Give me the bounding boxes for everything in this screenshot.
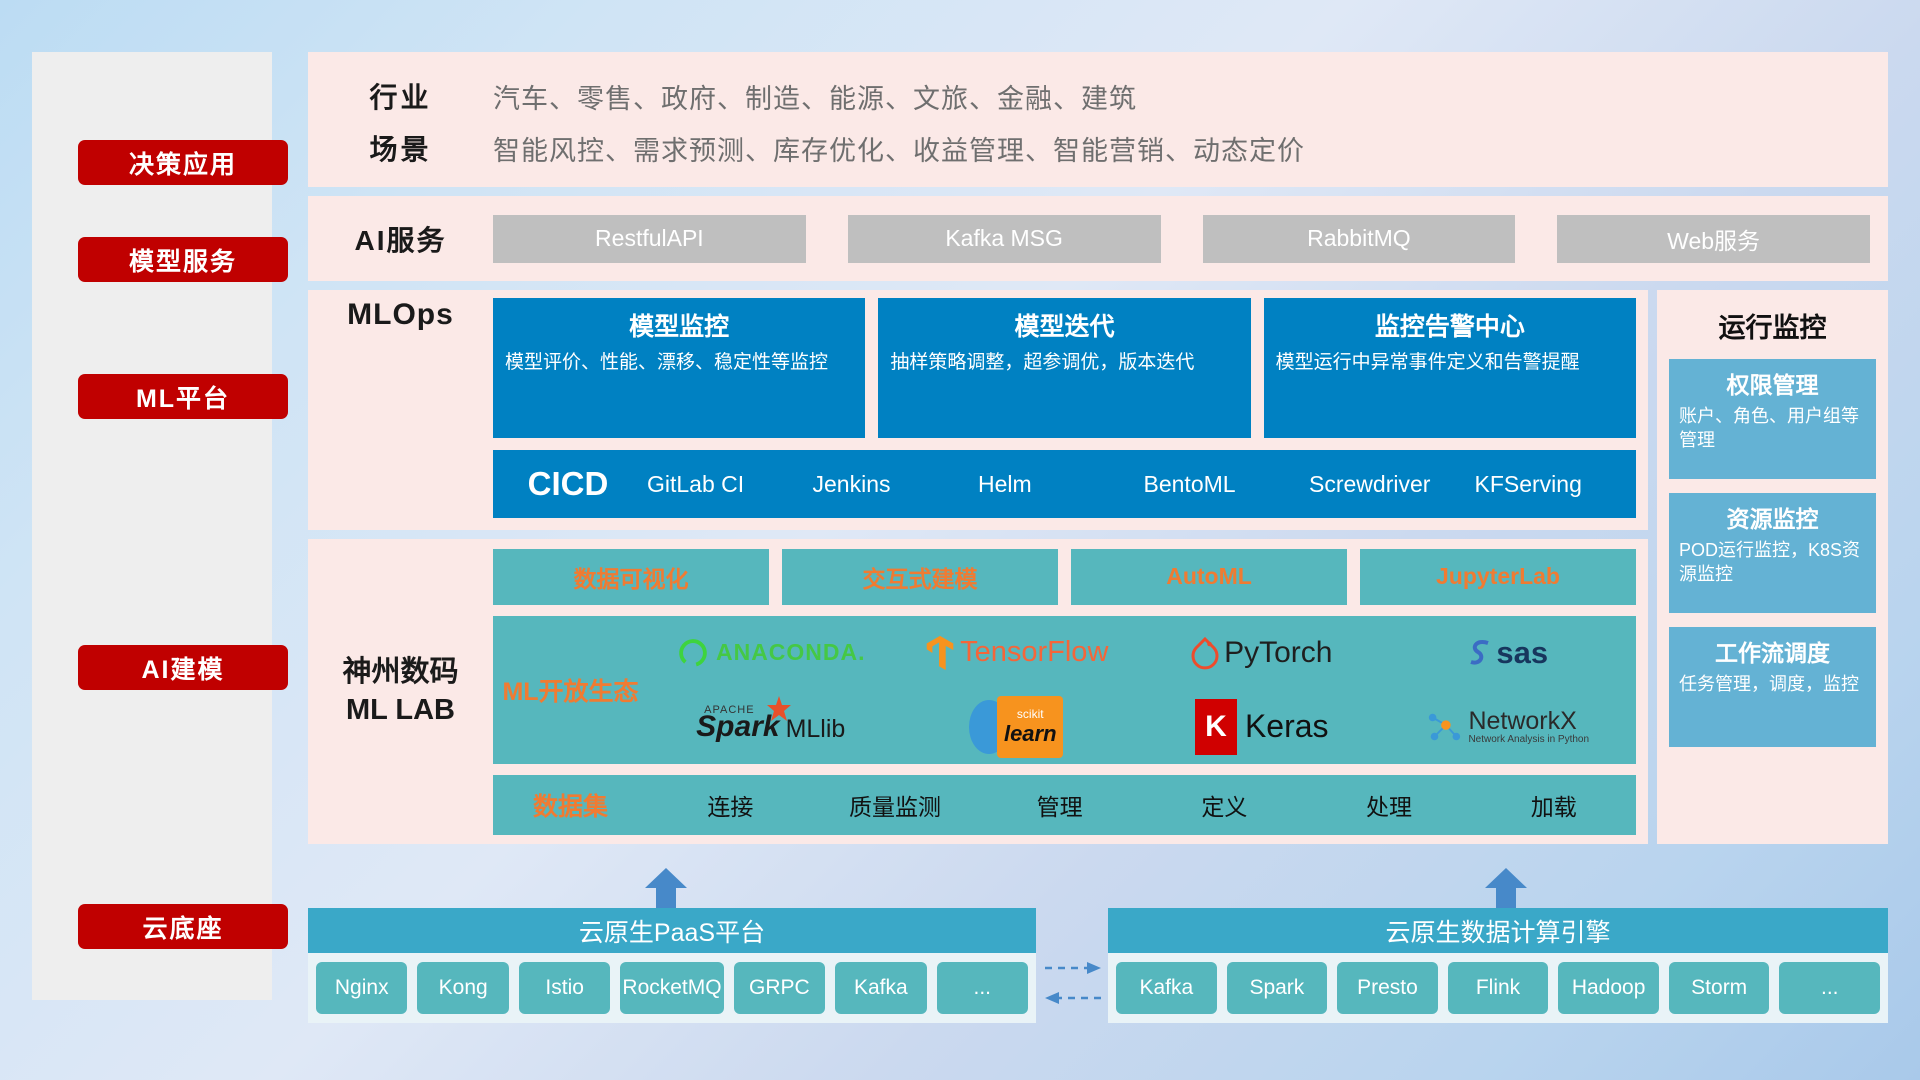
cicd-item-bentoml[interactable]: BentoML [1140,473,1306,496]
ai-service-label: AI服务 [308,219,493,259]
mlops-card-alert-center[interactable]: 监控告警中心 模型运行中异常事件定义和告警提醒 [1264,298,1636,438]
data-chip-hadoop[interactable]: Hadoop [1558,962,1659,1014]
architecture-main: 行业 汽车、零售、政府、制造、能源、文旅、金融、建筑 场景 智能风控、需求预测、… [308,52,1888,844]
scenario-value: 智能风控、需求预测、库存优化、收益管理、智能营销、动态定价 [493,129,1305,168]
mid-left-column: MLOps 模型监控 模型评价、性能、漂移、稳定性等监控 模型迭代 抽样策略调整… [308,290,1648,844]
mid-section: MLOps 模型监控 模型评价、性能、漂移、稳定性等监控 模型迭代 抽样策略调整… [308,290,1888,844]
rail-chip-ai-modeling[interactable]: AI建模 [78,645,288,690]
ml-open-ecosystem-row: ML开放生态 ANACONDA. [493,616,1636,764]
monitor-card-permission[interactable]: 权限管理 账户、角色、用户组等管理 [1669,359,1876,479]
tool-chip-interactive-modeling[interactable]: 交互式建模 [782,549,1058,605]
anaconda-logo: ANACONDA. [676,636,866,670]
cicd-item-screwdriver[interactable]: Screwdriver [1305,473,1471,496]
dataset-row: 数据集 连接 质量监测 管理 定义 处理 加载 [493,775,1636,835]
rail-chip-model-service[interactable]: 模型服务 [78,237,288,282]
dataset-item-connect[interactable]: 连接 [648,788,813,822]
service-chip-web-service[interactable]: Web服务 [1557,215,1870,263]
mlops-card-model-iteration[interactable]: 模型迭代 抽样策略调整，超参调优，版本迭代 [878,298,1250,438]
data-chip-flink[interactable]: Flink [1448,962,1549,1014]
tool-chip-automl[interactable]: AutoML [1071,549,1347,605]
monitor-card-workflow[interactable]: 工作流调度 任务管理，调度，监控 [1669,627,1876,747]
mlops-body: 模型监控 模型评价、性能、漂移、稳定性等监控 模型迭代 抽样策略调整，超参调优，… [493,298,1648,518]
cicd-title: CICD [493,465,643,503]
cloud-foundation-section: 云原生PaaS平台 Nginx Kong Istio RocketMQ GRPC… [308,890,1888,1050]
cicd-item-jenkins[interactable]: Jenkins [809,473,975,496]
up-arrow-paas-icon [643,868,689,908]
ml-lab-label: 神州数码 ML LAB [308,654,493,728]
mlops-label: MLOps [308,298,493,332]
ml-lab-body: 数据可视化 交互式建模 AutoML JupyterLab ML开放生态 ANA… [493,549,1648,835]
tool-chip-jupyterlab[interactable]: JupyterLab [1360,549,1636,605]
paas-chip-istio[interactable]: Istio [519,962,610,1014]
mlops-card-model-monitoring[interactable]: 模型监控 模型评价、性能、漂移、稳定性等监控 [493,298,865,438]
cicd-row: CICD GitLab CI Jenkins Helm BentoML Scre… [493,450,1636,518]
data-compute-engine-group: 云原生数据计算引擎 Kafka Spark Presto Flink Hadoo… [1108,908,1888,1023]
data-compute-engine-title: 云原生数据计算引擎 [1108,908,1888,953]
dataset-item-load[interactable]: 加载 [1471,788,1636,822]
runtime-monitoring-title: 运行监控 [1669,306,1876,345]
industry-label: 行业 [308,76,493,116]
paas-chip-grpc[interactable]: GRPC [734,962,825,1014]
industry-row: 行业 汽车、零售、政府、制造、能源、文旅、金融、建筑 [308,70,1888,122]
paas-chip-nginx[interactable]: Nginx [316,962,407,1014]
paas-platform-group: 云原生PaaS平台 Nginx Kong Istio RocketMQ GRPC… [308,908,1036,1023]
dataset-item-define[interactable]: 定义 [1142,788,1307,822]
ai-service-chip-list: RestfulAPI Kafka MSG RabbitMQ Web服务 [493,215,1888,263]
dataset-item-manage[interactable]: 管理 [977,788,1142,822]
tool-chip-data-visualization[interactable]: 数据可视化 [493,549,769,605]
paas-chip-list: Nginx Kong Istio RocketMQ GRPC Kafka ... [308,953,1036,1023]
mlops-card-title: 模型迭代 [890,307,1238,343]
rail-chip-cloud-base[interactable]: 云底座 [78,904,288,949]
mlops-card-desc: 模型评价、性能、漂移、稳定性等监控 [505,350,853,376]
mlops-card-desc: 抽样策略调整，超参调优，版本迭代 [890,350,1238,376]
dataset-item-list: 连接 质量监测 管理 定义 处理 加载 [648,788,1636,822]
tensorflow-logo: TensorFlow [924,634,1108,672]
ml-lab-band: 神州数码 ML LAB 数据可视化 交互式建模 AutoML JupyterLa… [308,539,1648,844]
data-chip-more[interactable]: ... [1779,962,1880,1014]
paas-chip-kafka[interactable]: Kafka [835,962,926,1014]
ml-lab-label-line1: 神州数码 [308,654,493,691]
ml-open-ecosystem-label: ML开放生态 [493,672,648,708]
spark-mllib-logo: APACHE Spark MLlib [696,710,845,744]
monitor-card-desc: 任务管理，调度，监控 [1679,673,1866,697]
service-chip-restfulapi[interactable]: RestfulAPI [493,215,806,263]
data-chip-presto[interactable]: Presto [1337,962,1438,1014]
monitor-card-resource[interactable]: 资源监控 POD运行监控，K8S资源监控 [1669,493,1876,613]
pytorch-logo: PyTorch [1191,636,1332,670]
rail-chip-decision[interactable]: 决策应用 [78,140,288,185]
industry-value: 汽车、零售、政府、制造、能源、文旅、金融、建筑 [493,77,1137,116]
cicd-item-kfserving[interactable]: KFServing [1471,473,1637,496]
dataset-item-quality-monitoring[interactable]: 质量监测 [813,788,978,822]
mlops-card-title: 模型监控 [505,307,853,343]
data-engine-chip-list: Kafka Spark Presto Flink Hadoop Storm ..… [1108,953,1888,1023]
mlops-card-title: 监控告警中心 [1276,307,1624,343]
ecosystem-logo-grid: ANACONDA. TensorFlow [648,616,1636,764]
data-chip-spark[interactable]: Spark [1227,962,1328,1014]
up-arrow-data-engine-icon [1483,868,1529,908]
paas-chip-rocketmq[interactable]: RocketMQ [620,962,723,1014]
cicd-item-gitlab-ci[interactable]: GitLab CI [643,473,809,496]
scenario-label: 场景 [308,128,493,168]
ml-lab-label-line2: ML LAB [308,692,493,729]
monitor-card-desc: POD运行监控，K8S资源监控 [1679,539,1866,587]
ml-lab-tool-row: 数据可视化 交互式建模 AutoML JupyterLab [493,549,1636,605]
cicd-item-helm[interactable]: Helm [974,473,1140,496]
monitor-card-title: 权限管理 [1679,366,1866,400]
dataset-item-process[interactable]: 处理 [1307,788,1472,822]
paas-chip-kong[interactable]: Kong [417,962,508,1014]
paas-chip-more[interactable]: ... [937,962,1028,1014]
mlops-card-desc: 模型运行中异常事件定义和告警提醒 [1276,350,1624,376]
sas-logo: sas [1466,635,1548,671]
runtime-monitoring-panel: 运行监控 权限管理 账户、角色、用户组等管理 资源监控 POD运行监控，K8S资… [1657,290,1888,844]
service-chip-kafka-msg[interactable]: Kafka MSG [848,215,1161,263]
mlops-band: MLOps 模型监控 模型评价、性能、漂移、稳定性等监控 模型迭代 抽样策略调整… [308,290,1648,530]
scikit-learn-logo: scikit learn [969,696,1063,758]
service-chip-rabbitmq[interactable]: RabbitMQ [1203,215,1516,263]
monitor-card-title: 工作流调度 [1679,634,1866,668]
networkx-logo: NetworkX Network Analysis in Python [1425,708,1589,746]
keras-logo: K Keras [1195,699,1329,755]
scenario-row: 场景 智能风控、需求预测、库存优化、收益管理、智能营销、动态定价 [308,122,1888,174]
industry-scenario-band: 行业 汽车、零售、政府、制造、能源、文旅、金融、建筑 场景 智能风控、需求预测、… [308,52,1888,187]
monitor-card-desc: 账户、角色、用户组等管理 [1679,405,1866,453]
monitor-card-title: 资源监控 [1679,500,1866,534]
ai-service-band: AI服务 RestfulAPI Kafka MSG RabbitMQ Web服务 [308,196,1888,281]
data-chip-kafka[interactable]: Kafka [1116,962,1217,1014]
paas-platform-title: 云原生PaaS平台 [308,908,1036,953]
rail-chip-ml-platform[interactable]: ML平台 [78,374,288,419]
dataset-label: 数据集 [493,787,648,823]
bidirectional-link-icon [1043,952,1103,1012]
data-chip-storm[interactable]: Storm [1669,962,1770,1014]
left-stage-rail: 决策应用 模型服务 ML平台 AI建模 云底座 [32,52,272,1000]
mlops-card-list: 模型监控 模型评价、性能、漂移、稳定性等监控 模型迭代 抽样策略调整，超参调优，… [493,298,1636,438]
